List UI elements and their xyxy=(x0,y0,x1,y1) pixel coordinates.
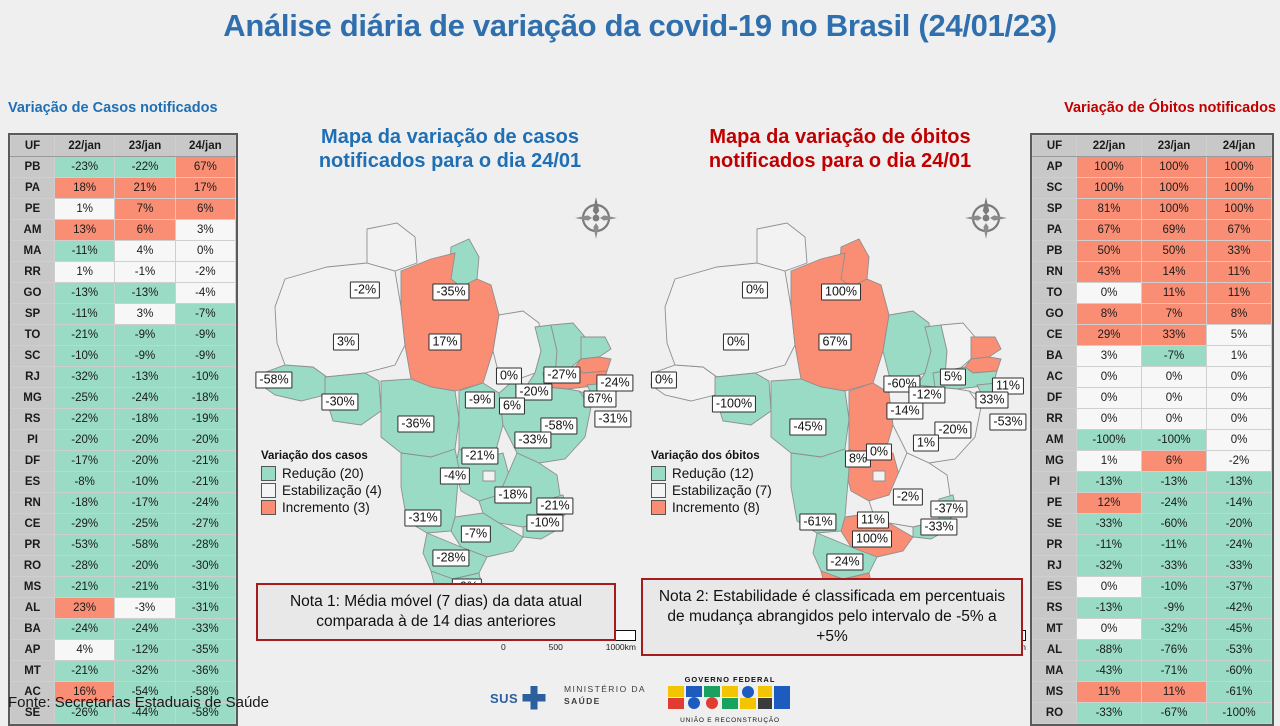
sus-logo: SUS xyxy=(490,685,547,711)
value-cell: -67% xyxy=(1142,703,1207,724)
uf-cell: SE xyxy=(1033,514,1077,535)
footer-logo-bar: SUS MINISTÉRIO DA SAÚDE GOVERNO FEDERAL … xyxy=(490,675,810,719)
compass-rose-icon xyxy=(963,195,1009,246)
value-cell: -21% xyxy=(55,325,115,346)
uf-cell: RN xyxy=(11,493,55,514)
value-cell: -10% xyxy=(175,367,235,388)
value-cell: -24% xyxy=(1142,493,1207,514)
table-row: MA-11%4%0% xyxy=(11,241,236,262)
uf-cell: CE xyxy=(11,514,55,535)
table-row: PE12%-24%-14% xyxy=(1033,493,1272,514)
value-cell: 6% xyxy=(115,220,175,241)
value-cell: 6% xyxy=(175,199,235,220)
table-row: PI-13%-13%-13% xyxy=(1033,472,1272,493)
table-row: SP81%100%100% xyxy=(1033,199,1272,220)
table-header-row: UF22/jan23/jan24/jan xyxy=(11,136,236,157)
value-cell: -21% xyxy=(175,451,235,472)
column-header-UF: UF xyxy=(1033,136,1077,157)
value-cell: 33% xyxy=(1142,325,1207,346)
value-cell: 3% xyxy=(1077,346,1142,367)
value-cell: -43% xyxy=(1077,661,1142,682)
table-row: RO-33%-67%-100% xyxy=(1033,703,1272,724)
map-label-SP: 100% xyxy=(852,531,892,548)
value-cell: -100% xyxy=(1207,703,1272,724)
value-cell: -14% xyxy=(1207,493,1272,514)
uf-cell: MG xyxy=(11,388,55,409)
table-row: AP4%-12%-35% xyxy=(11,640,236,661)
value-cell: -42% xyxy=(1207,598,1272,619)
value-cell: -28% xyxy=(55,556,115,577)
value-cell: -27% xyxy=(175,514,235,535)
map-label-RO: -100% xyxy=(712,396,756,413)
legend-swatch-estabilizacao xyxy=(261,483,276,498)
value-cell: 0% xyxy=(1077,367,1142,388)
table-row: AP100%100%100% xyxy=(1033,157,1272,178)
value-cell: 1% xyxy=(55,262,115,283)
value-cell: 11% xyxy=(1207,262,1272,283)
value-cell: 23% xyxy=(55,598,115,619)
value-cell: 7% xyxy=(1142,304,1207,325)
table-row: PA67%69%67% xyxy=(1033,220,1272,241)
value-cell: -10% xyxy=(55,346,115,367)
table-row: MT-21%-32%-36% xyxy=(11,661,236,682)
ministerio-line-1: MINISTÉRIO DA xyxy=(564,683,646,695)
value-cell: -24% xyxy=(115,619,175,640)
casos-map-title-line1: Mapa da variação de casos xyxy=(255,125,645,149)
uf-cell: AP xyxy=(1033,157,1077,178)
value-cell: -19% xyxy=(175,409,235,430)
value-cell: 4% xyxy=(55,640,115,661)
map-state-RN xyxy=(581,337,611,359)
table-row: MA-43%-71%-60% xyxy=(1033,661,1272,682)
value-cell: 13% xyxy=(55,220,115,241)
value-cell: -88% xyxy=(1077,640,1142,661)
value-cell: -7% xyxy=(1142,346,1207,367)
governo-federal-logo: GOVERNO FEDERAL UNIÃO E RECONSTRUÇÃO xyxy=(665,675,795,724)
table-row: BA-24%-24%-33% xyxy=(11,619,236,640)
value-cell: -13% xyxy=(1142,472,1207,493)
value-cell: 50% xyxy=(1142,241,1207,262)
value-cell: 100% xyxy=(1142,157,1207,178)
value-cell: 50% xyxy=(1077,241,1142,262)
casos-legend-title: Variação dos casos xyxy=(261,450,382,462)
map-label-TO: 11% xyxy=(857,512,889,529)
value-cell: 0% xyxy=(1142,388,1207,409)
map-label-RJ: -33% xyxy=(920,519,957,536)
value-cell: 8% xyxy=(1207,304,1272,325)
value-cell: -4% xyxy=(175,283,235,304)
map-state-RR xyxy=(367,223,417,271)
value-cell: -20% xyxy=(115,556,175,577)
table-row: GO-13%-13%-4% xyxy=(11,283,236,304)
casos-choropleth-map: -2%-35%3%17%0%-27%-24%67%-20%6%-31%-58%-… xyxy=(255,187,645,607)
value-cell: 11% xyxy=(1207,283,1272,304)
value-cell: 33% xyxy=(1207,241,1272,262)
table-row: ES-8%-10%-21% xyxy=(11,472,236,493)
value-cell: 29% xyxy=(1077,325,1142,346)
uf-cell: MT xyxy=(11,661,55,682)
legend-label-estabilizacao: Estabilização (4) xyxy=(282,483,382,498)
value-cell: -32% xyxy=(1077,556,1142,577)
uf-cell: PI xyxy=(1033,472,1077,493)
map-label-CE: -27% xyxy=(543,367,580,384)
map-state-MA xyxy=(883,311,931,381)
value-cell: 69% xyxy=(1142,220,1207,241)
legend-label-reducao: Redução (12) xyxy=(672,466,754,481)
casos-map-legend: Variação dos casos Redução (20) Estabili… xyxy=(261,450,382,516)
value-cell: -8% xyxy=(55,472,115,493)
value-cell: -2% xyxy=(1207,451,1272,472)
page-title: Análise diária de variação da covid-19 n… xyxy=(0,8,1280,44)
uf-cell: MA xyxy=(11,241,55,262)
uf-cell: DF xyxy=(1033,388,1077,409)
value-cell: 0% xyxy=(1142,367,1207,388)
uf-cell: PA xyxy=(11,178,55,199)
uf-cell: BA xyxy=(11,619,55,640)
uf-cell: PE xyxy=(1033,493,1077,514)
value-cell: -30% xyxy=(175,556,235,577)
table-row: MG1%6%-2% xyxy=(1033,451,1272,472)
map-state-PA xyxy=(791,253,889,391)
casos-section-heading: Variação de Casos notificados xyxy=(8,100,218,116)
table-row: RR1%-1%-2% xyxy=(11,262,236,283)
value-cell: -18% xyxy=(175,388,235,409)
map-state-PA xyxy=(401,253,499,391)
value-cell: -13% xyxy=(55,283,115,304)
value-cell: -32% xyxy=(115,661,175,682)
value-cell: -11% xyxy=(1077,535,1142,556)
legend-swatch-incremento xyxy=(261,500,276,515)
column-header-UF: UF xyxy=(11,136,55,157)
value-cell: -76% xyxy=(1142,640,1207,661)
value-cell: 6% xyxy=(1142,451,1207,472)
map-label-AL: -53% xyxy=(989,414,1026,431)
value-cell: 100% xyxy=(1077,157,1142,178)
table-row: TO0%11%11% xyxy=(1033,283,1272,304)
value-cell: -11% xyxy=(55,304,115,325)
value-cell: -25% xyxy=(55,388,115,409)
brasil-logo-icon xyxy=(666,684,794,711)
uf-cell: CE xyxy=(1033,325,1077,346)
uf-cell: AP xyxy=(11,640,55,661)
value-cell: 7% xyxy=(115,199,175,220)
value-cell: -28% xyxy=(175,535,235,556)
uf-cell: ES xyxy=(11,472,55,493)
value-cell: 100% xyxy=(1142,199,1207,220)
map-label-DF: 0% xyxy=(866,444,892,461)
map-label-PA: 67% xyxy=(818,334,851,351)
map-label-CE: 5% xyxy=(940,369,966,386)
casos-map-title: Mapa da variação de casos notificados pa… xyxy=(255,125,645,174)
table-row: SP-11%3%-7% xyxy=(11,304,236,325)
table-row: GO8%7%8% xyxy=(1033,304,1272,325)
value-cell: -12% xyxy=(115,640,175,661)
uf-cell: AM xyxy=(1033,430,1077,451)
value-cell: -13% xyxy=(115,283,175,304)
map-label-MA: 0% xyxy=(496,368,522,385)
obitos-section-heading: Variação de Óbitos notificados xyxy=(1064,100,1276,116)
value-cell: -35% xyxy=(175,640,235,661)
table-row: PB50%50%33% xyxy=(1033,241,1272,262)
uf-cell: ES xyxy=(1033,577,1077,598)
value-cell: -32% xyxy=(1142,619,1207,640)
value-cell: -10% xyxy=(115,472,175,493)
table-row: PA18%21%17% xyxy=(11,178,236,199)
table-row: RN-18%-17%-24% xyxy=(11,493,236,514)
casos-map-title-line2: notificados para o dia 24/01 xyxy=(255,149,645,173)
scalebar-tick-1000: 1000km xyxy=(606,642,636,652)
map-label-AL: -31% xyxy=(594,411,631,428)
value-cell: 21% xyxy=(115,178,175,199)
value-cell: -37% xyxy=(1207,577,1272,598)
map-label-MS: -61% xyxy=(799,514,836,531)
value-cell: 1% xyxy=(55,199,115,220)
value-cell: -100% xyxy=(1077,430,1142,451)
obitos-map-title-line1: Mapa da variação de óbitos xyxy=(645,125,1035,149)
table-row: RN43%14%11% xyxy=(1033,262,1272,283)
table-row: RJ-32%-33%-33% xyxy=(1033,556,1272,577)
value-cell: 4% xyxy=(115,241,175,262)
map-label-AC: -58% xyxy=(255,372,292,389)
uf-cell: PA xyxy=(1033,220,1077,241)
value-cell: 0% xyxy=(1077,619,1142,640)
governo-federal-label: GOVERNO FEDERAL xyxy=(665,675,795,684)
table-row: AM-100%-100%0% xyxy=(1033,430,1272,451)
value-cell: 12% xyxy=(1077,493,1142,514)
value-cell: 0% xyxy=(1207,430,1272,451)
map-label-SE: 1% xyxy=(913,435,939,452)
value-cell: -13% xyxy=(115,367,175,388)
table-row: MT0%-32%-45% xyxy=(1033,619,1272,640)
scalebar-tick-500: 500 xyxy=(549,642,563,652)
column-header-23-jan: 23/jan xyxy=(1142,136,1207,157)
table-row: PR-11%-11%-24% xyxy=(1033,535,1272,556)
map-label-PE: -14% xyxy=(886,403,923,420)
table-header-row: UF22/jan23/jan24/jan xyxy=(1033,136,1272,157)
table-row: AM13%6%3% xyxy=(11,220,236,241)
uf-cell: DF xyxy=(11,451,55,472)
value-cell: -33% xyxy=(1142,556,1207,577)
legend-swatch-reducao xyxy=(651,466,666,481)
map-label-PB: 67% xyxy=(583,391,616,408)
uf-cell: SC xyxy=(1033,178,1077,199)
uf-cell: AL xyxy=(11,598,55,619)
map-label-RR: 0% xyxy=(742,282,768,299)
map-label-AM: 3% xyxy=(333,334,359,351)
value-cell: 11% xyxy=(1077,682,1142,703)
value-cell: 17% xyxy=(175,178,235,199)
legend-swatch-incremento xyxy=(651,500,666,515)
map-state-DF xyxy=(483,471,495,481)
uf-cell: RS xyxy=(1033,598,1077,619)
column-header-24-jan: 24/jan xyxy=(1207,136,1272,157)
column-header-22-jan: 22/jan xyxy=(55,136,115,157)
value-cell: 11% xyxy=(1142,283,1207,304)
table-row: MS-21%-21%-31% xyxy=(11,577,236,598)
value-cell: -31% xyxy=(175,598,235,619)
map-label-SP: -7% xyxy=(461,526,491,543)
obitos-variation-table: UF22/jan23/jan24/jan AP100%100%100%SC100… xyxy=(1032,135,1272,724)
value-cell: -22% xyxy=(55,409,115,430)
value-cell: -45% xyxy=(1207,619,1272,640)
sus-logo-text: SUS xyxy=(490,691,518,706)
ministerio-line-2: SAÚDE xyxy=(564,695,646,707)
value-cell: -20% xyxy=(115,430,175,451)
legend-label-incremento: Incremento (8) xyxy=(672,500,760,515)
value-cell: 0% xyxy=(1077,409,1142,430)
uf-cell: SP xyxy=(1033,199,1077,220)
value-cell: 0% xyxy=(1142,409,1207,430)
value-cell: -21% xyxy=(55,577,115,598)
value-cell: 3% xyxy=(175,220,235,241)
value-cell: 100% xyxy=(1207,199,1272,220)
value-cell: -18% xyxy=(115,409,175,430)
compass-rose-icon xyxy=(573,195,619,246)
value-cell: -32% xyxy=(55,367,115,388)
value-cell: 8% xyxy=(1077,304,1142,325)
value-cell: 100% xyxy=(1077,178,1142,199)
value-cell: -24% xyxy=(115,388,175,409)
table-row: SE-33%-60%-20% xyxy=(1033,514,1272,535)
value-cell: 5% xyxy=(1207,325,1272,346)
value-cell: -20% xyxy=(1207,514,1272,535)
note-2-box: Nota 2: Estabilidade é classificada em p… xyxy=(641,578,1023,656)
uf-cell: AM xyxy=(11,220,55,241)
value-cell: -9% xyxy=(175,325,235,346)
table-row: SC100%100%100% xyxy=(1033,178,1272,199)
table-row: AL-88%-76%-53% xyxy=(1033,640,1272,661)
value-cell: -2% xyxy=(175,262,235,283)
value-cell: -13% xyxy=(1077,598,1142,619)
uf-cell: PR xyxy=(1033,535,1077,556)
value-cell: 18% xyxy=(55,178,115,199)
map-label-RO: -30% xyxy=(321,394,358,411)
uf-cell: RR xyxy=(11,262,55,283)
table-row: DF0%0%0% xyxy=(1033,388,1272,409)
map-label-MT: -36% xyxy=(397,416,434,433)
uf-cell: GO xyxy=(1033,304,1077,325)
value-cell: -7% xyxy=(175,304,235,325)
obitos-table-container: UF22/jan23/jan24/jan AP100%100%100%SC100… xyxy=(1030,133,1274,726)
value-cell: -9% xyxy=(175,346,235,367)
map-state-DF xyxy=(873,471,885,481)
uf-cell: PB xyxy=(11,157,55,178)
value-cell: -11% xyxy=(55,241,115,262)
map-label-AP: -35% xyxy=(432,284,469,301)
uf-cell: MG xyxy=(1033,451,1077,472)
ministerio-saude-logo: MINISTÉRIO DA SAÚDE xyxy=(564,683,646,707)
map-label-GO: -21% xyxy=(461,448,498,465)
map-label-ES: -21% xyxy=(536,498,573,515)
uf-cell: SC xyxy=(11,346,55,367)
value-cell: 11% xyxy=(1142,682,1207,703)
map-label-PI: -12% xyxy=(908,387,945,404)
value-cell: -20% xyxy=(55,430,115,451)
value-cell: 0% xyxy=(1207,367,1272,388)
uf-cell: MA xyxy=(1033,661,1077,682)
value-cell: -3% xyxy=(115,598,175,619)
value-cell: -13% xyxy=(1077,472,1142,493)
table-row: RS-13%-9%-42% xyxy=(1033,598,1272,619)
value-cell: -21% xyxy=(175,472,235,493)
uf-cell: PI xyxy=(11,430,55,451)
map-state-AM xyxy=(665,263,795,377)
table-row: SC-10%-9%-9% xyxy=(11,346,236,367)
table-row: MS11%11%-61% xyxy=(1033,682,1272,703)
map-label-RJ: -10% xyxy=(526,515,563,532)
table-row: PB-23%-22%67% xyxy=(11,157,236,178)
map-label-MG: -2% xyxy=(893,489,923,506)
legend-label-incremento: Incremento (3) xyxy=(282,500,370,515)
value-cell: -25% xyxy=(115,514,175,535)
legend-row-reducao: Redução (12) xyxy=(651,465,772,482)
value-cell: -24% xyxy=(55,619,115,640)
map-label-DF: -4% xyxy=(440,468,470,485)
uf-cell: GO xyxy=(11,283,55,304)
value-cell: 67% xyxy=(1207,220,1272,241)
value-cell: -13% xyxy=(1207,472,1272,493)
table-row: TO-21%-9%-9% xyxy=(11,325,236,346)
obitos-legend-title: Variação dos óbitos xyxy=(651,450,772,462)
scalebar-tick-0: 0 xyxy=(501,642,506,652)
value-cell: -20% xyxy=(175,430,235,451)
map-label-AC: 0% xyxy=(651,372,677,389)
value-cell: 81% xyxy=(1077,199,1142,220)
value-cell: 0% xyxy=(1077,577,1142,598)
legend-label-reducao: Redução (20) xyxy=(282,466,364,481)
value-cell: -22% xyxy=(115,157,175,178)
map-label-ES: -37% xyxy=(930,501,967,518)
map-label-PR: -24% xyxy=(826,554,863,571)
value-cell: -29% xyxy=(55,514,115,535)
map-label-BA: -20% xyxy=(934,422,971,439)
map-state-AM xyxy=(275,263,405,377)
value-cell: -100% xyxy=(1142,430,1207,451)
map-label-PA: 17% xyxy=(428,334,461,351)
obitos-choropleth-map: 0%100%0%67%-60%5%11%33%-12%-14%-53%-20%0… xyxy=(645,187,1035,607)
uf-cell: RR xyxy=(1033,409,1077,430)
value-cell: -9% xyxy=(115,325,175,346)
table-row: AC0%0%0% xyxy=(1033,367,1272,388)
sus-cross-icon xyxy=(521,685,547,711)
table-row: PE1%7%6% xyxy=(11,199,236,220)
value-cell: -21% xyxy=(115,577,175,598)
uf-cell: PE xyxy=(11,199,55,220)
value-cell: -60% xyxy=(1142,514,1207,535)
value-cell: 100% xyxy=(1207,178,1272,199)
column-header-24-jan: 24/jan xyxy=(175,136,235,157)
value-cell: -18% xyxy=(55,493,115,514)
value-cell: -31% xyxy=(175,577,235,598)
map-label-TO: -9% xyxy=(465,392,495,409)
map-label-RR: -2% xyxy=(350,282,380,299)
value-cell: -1% xyxy=(115,262,175,283)
value-cell: -11% xyxy=(1142,535,1207,556)
value-cell: -24% xyxy=(1207,535,1272,556)
table-row: PR-53%-58%-28% xyxy=(11,535,236,556)
obitos-map-title: Mapa da variação de óbitos notificados p… xyxy=(645,125,1035,174)
value-cell: -23% xyxy=(55,157,115,178)
source-note: Fonte: Secretarias Estaduais de Saúde xyxy=(8,694,269,711)
value-cell: 0% xyxy=(1207,388,1272,409)
uf-cell: PB xyxy=(1033,241,1077,262)
table-row: ES0%-10%-37% xyxy=(1033,577,1272,598)
table-row: MG-25%-24%-18% xyxy=(11,388,236,409)
value-cell: 0% xyxy=(1077,283,1142,304)
uf-cell: MS xyxy=(1033,682,1077,703)
table-row: DF-17%-20%-21% xyxy=(11,451,236,472)
legend-label-estabilizacao: Estabilização (7) xyxy=(672,483,772,498)
